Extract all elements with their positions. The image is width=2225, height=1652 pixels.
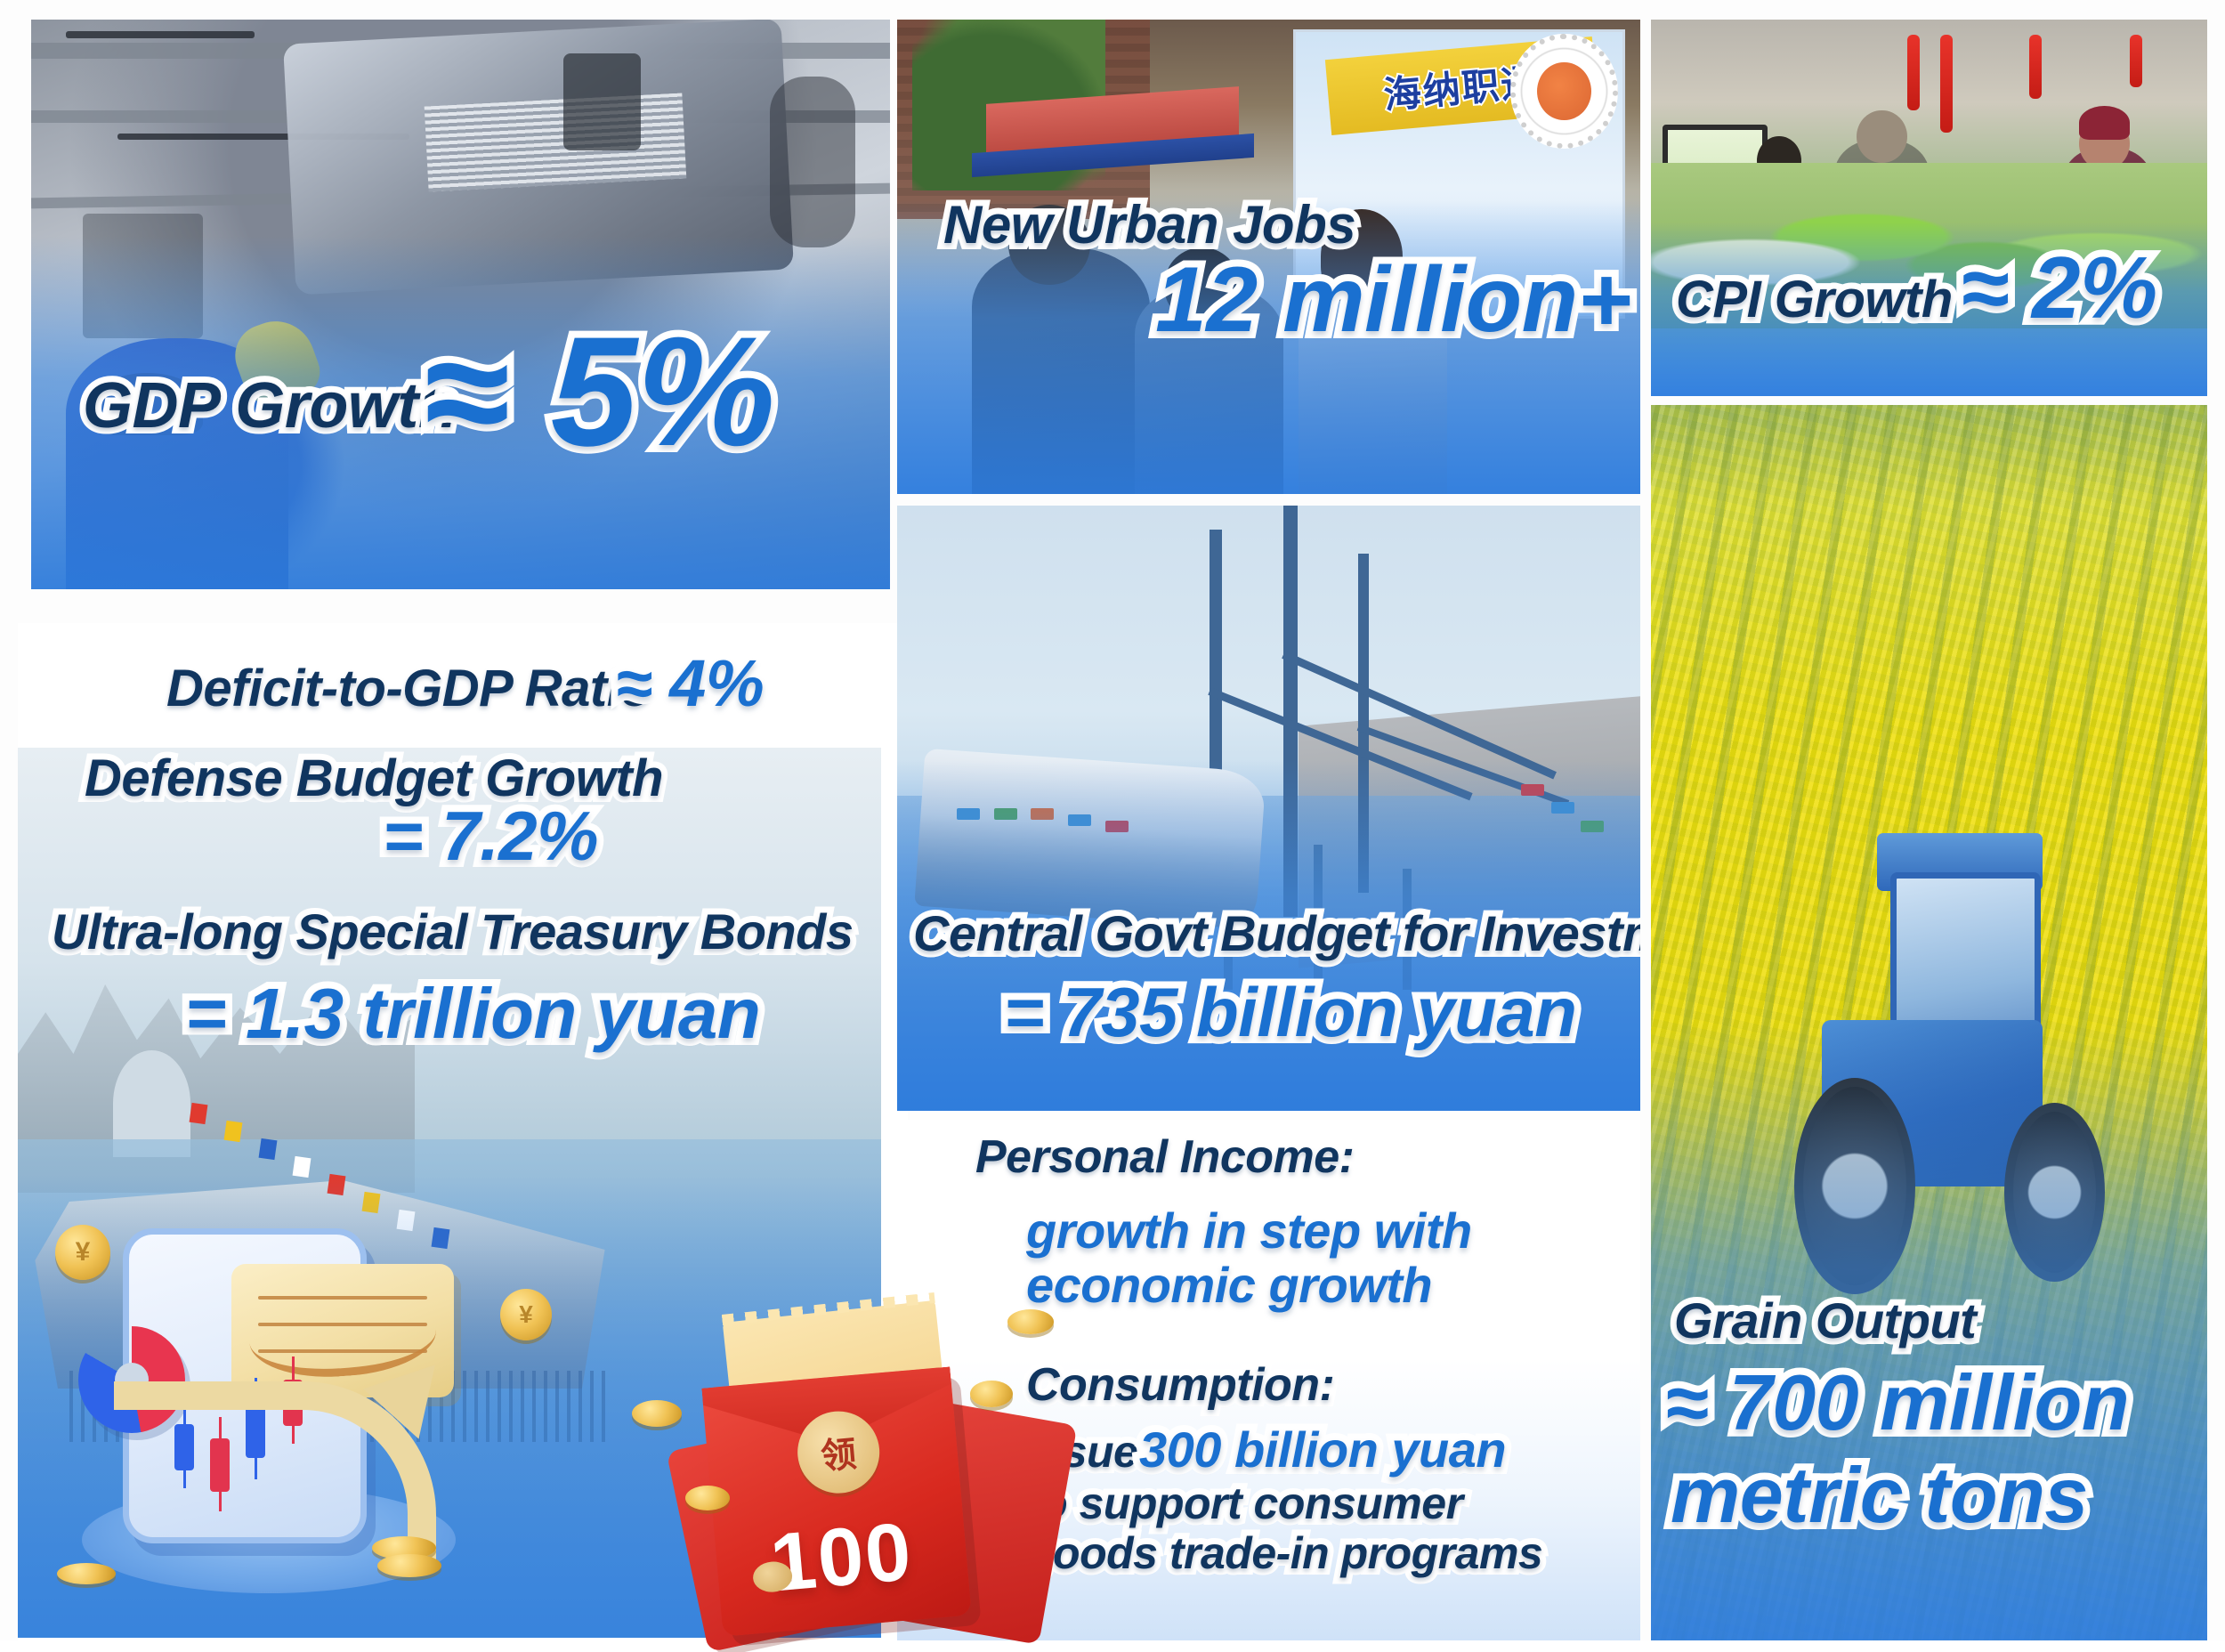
market-photo [1651, 20, 2207, 396]
factory-photo [31, 20, 890, 589]
panel-new-urban-jobs: 海纳职通 New Urban Jobs 12 million+ [897, 20, 1640, 494]
envelope-amount: 100 [714, 1501, 970, 1616]
consumption-label: Consumption: [1026, 1362, 1334, 1409]
deficit-label: Deficit-to-GDP Ratio [166, 662, 651, 715]
jobs-value: 12 million+ [1155, 253, 1631, 347]
personal-income-value-line1: growth in step with [1026, 1205, 1472, 1256]
finance-3d-illustration: ¥ ¥ [18, 1173, 552, 1618]
gold-coin-icon [685, 1486, 730, 1510]
gold-coin-icon [1007, 1309, 1054, 1334]
infographic-canvas: GDP Growth ≈ 5% 海纳职通 New Urban Jobs 12 m… [0, 0, 2225, 1640]
grain-value-line2: metric tons [1671, 1455, 2088, 1535]
coin-icon [57, 1563, 116, 1584]
panel-central-govt-investment: Central Govt Budget for Investment = 735… [897, 506, 1640, 1111]
deficit-value: ≈ 4% [616, 650, 764, 717]
treasury-bonds-label: Ultra-long Special Treasury Bonds [52, 906, 853, 957]
cpi-label: CPI Growth [1676, 273, 1953, 326]
seal-text: 领 [819, 1425, 859, 1479]
consumption-line2: to support consumer [1026, 1481, 1463, 1526]
defense-value: = 7.2% [383, 801, 598, 872]
investment-value: = 735 billion yuan [1004, 977, 1576, 1049]
job-fair-seal-icon [1510, 34, 1618, 149]
coin-stack-icon [377, 1554, 441, 1577]
personal-income-value-line2: economic growth [1026, 1259, 1432, 1310]
red-envelope-illustration: 消费券 领 100 [676, 1295, 1050, 1640]
panel-gdp-growth: GDP Growth ≈ 5% [31, 20, 890, 589]
coin-symbol: ¥ [55, 1225, 110, 1280]
jobs-label: New Urban Jobs [943, 198, 1355, 252]
panel-cpi-growth: CPI Growth ≈ 2% [1651, 20, 2207, 396]
grain-label: Grain Output [1674, 1295, 1976, 1346]
consumption-line3: goods trade-in programs [1026, 1531, 1542, 1576]
treasury-bonds-value: = 1.3 trillion yuan [185, 977, 760, 1050]
cpi-value: ≈ 2% [1961, 244, 2157, 333]
gdp-value: ≈ 5% [423, 313, 775, 473]
yuan-coin-icon: ¥ [500, 1289, 552, 1340]
consumption-amount: 300 billion yuan [1139, 1424, 1506, 1475]
investment-label: Central Govt Budget for Investment [913, 908, 1640, 959]
grain-value-line1: ≈ 700 million [1665, 1363, 2129, 1443]
personal-income-label: Personal Income: [975, 1134, 1354, 1181]
gdp-label: GDP Growth [83, 374, 457, 439]
panel-grain-output: Grain Output ≈ 700 million metric tons [1651, 405, 2207, 1640]
yuan-coin-icon: ¥ [55, 1225, 110, 1280]
red-packet: 领 100 [701, 1366, 971, 1636]
gold-coin-icon [632, 1400, 682, 1427]
gold-coin-icon [970, 1381, 1013, 1407]
